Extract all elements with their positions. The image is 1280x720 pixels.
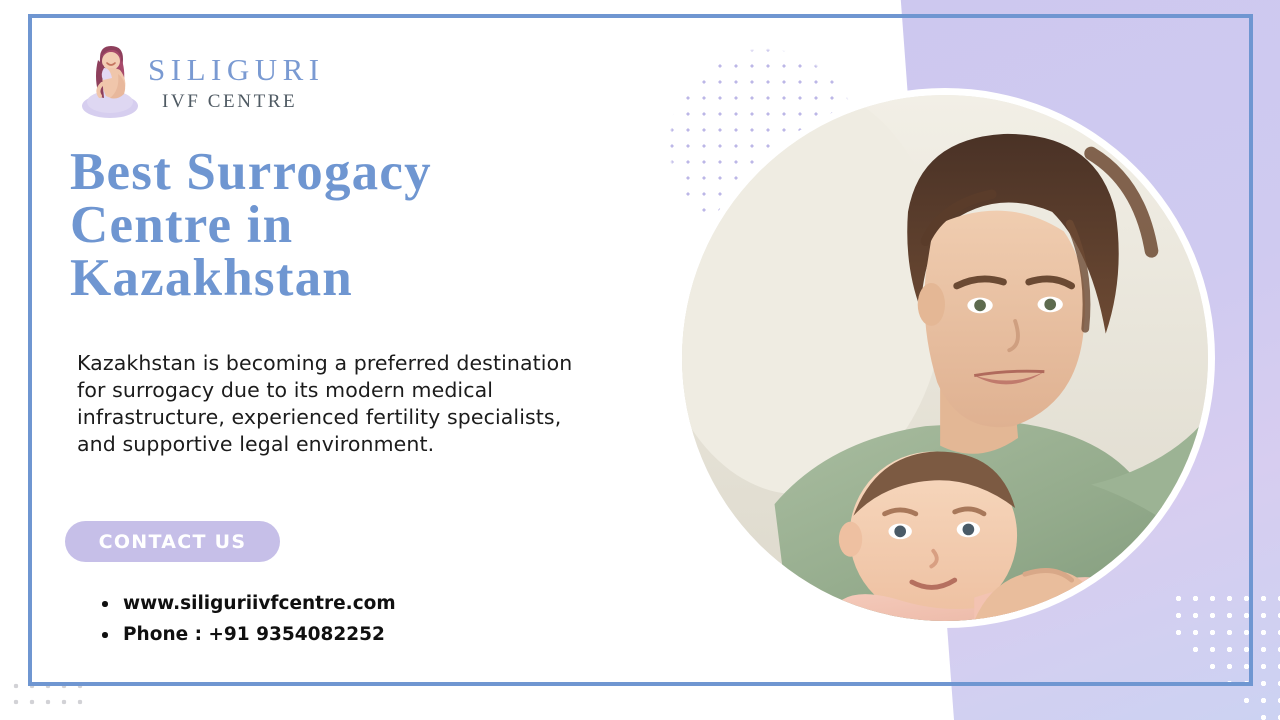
hero-photo-ring bbox=[675, 88, 1215, 628]
phone-number: Phone : +91 9354082252 bbox=[123, 624, 385, 645]
brand-tagline: IVF CENTRE bbox=[162, 92, 325, 111]
website-url: www.siliguriivfcentre.com bbox=[123, 593, 396, 614]
brand-logo[interactable]: SILIGURI IVF CENTRE bbox=[78, 38, 338, 122]
brand-name: SILIGURI bbox=[148, 54, 325, 85]
pregnant-woman-illustration-icon bbox=[78, 40, 142, 120]
decorative-dot-grid-bottom-right-icon bbox=[1170, 590, 1280, 720]
contact-list: www.siliguriivfcentre.com Phone : +91 93… bbox=[100, 588, 396, 650]
decorative-dot-grid-bottom-left-icon bbox=[8, 678, 88, 710]
brand-wordmark: SILIGURI IVF CENTRE bbox=[148, 50, 325, 111]
banner-canvas: SILIGURI IVF CENTRE Best Surrogacy Centr… bbox=[0, 0, 1280, 720]
hero-photo bbox=[682, 95, 1208, 621]
page-title: Best Surrogacy Centre in Kazakhstan bbox=[70, 146, 590, 305]
list-item[interactable]: Phone : +91 9354082252 bbox=[100, 619, 396, 650]
description-text: Kazakhstan is becoming a preferred desti… bbox=[77, 350, 589, 458]
contact-us-button[interactable]: CONTACT US bbox=[65, 521, 280, 562]
list-item[interactable]: www.siliguriivfcentre.com bbox=[100, 588, 396, 619]
